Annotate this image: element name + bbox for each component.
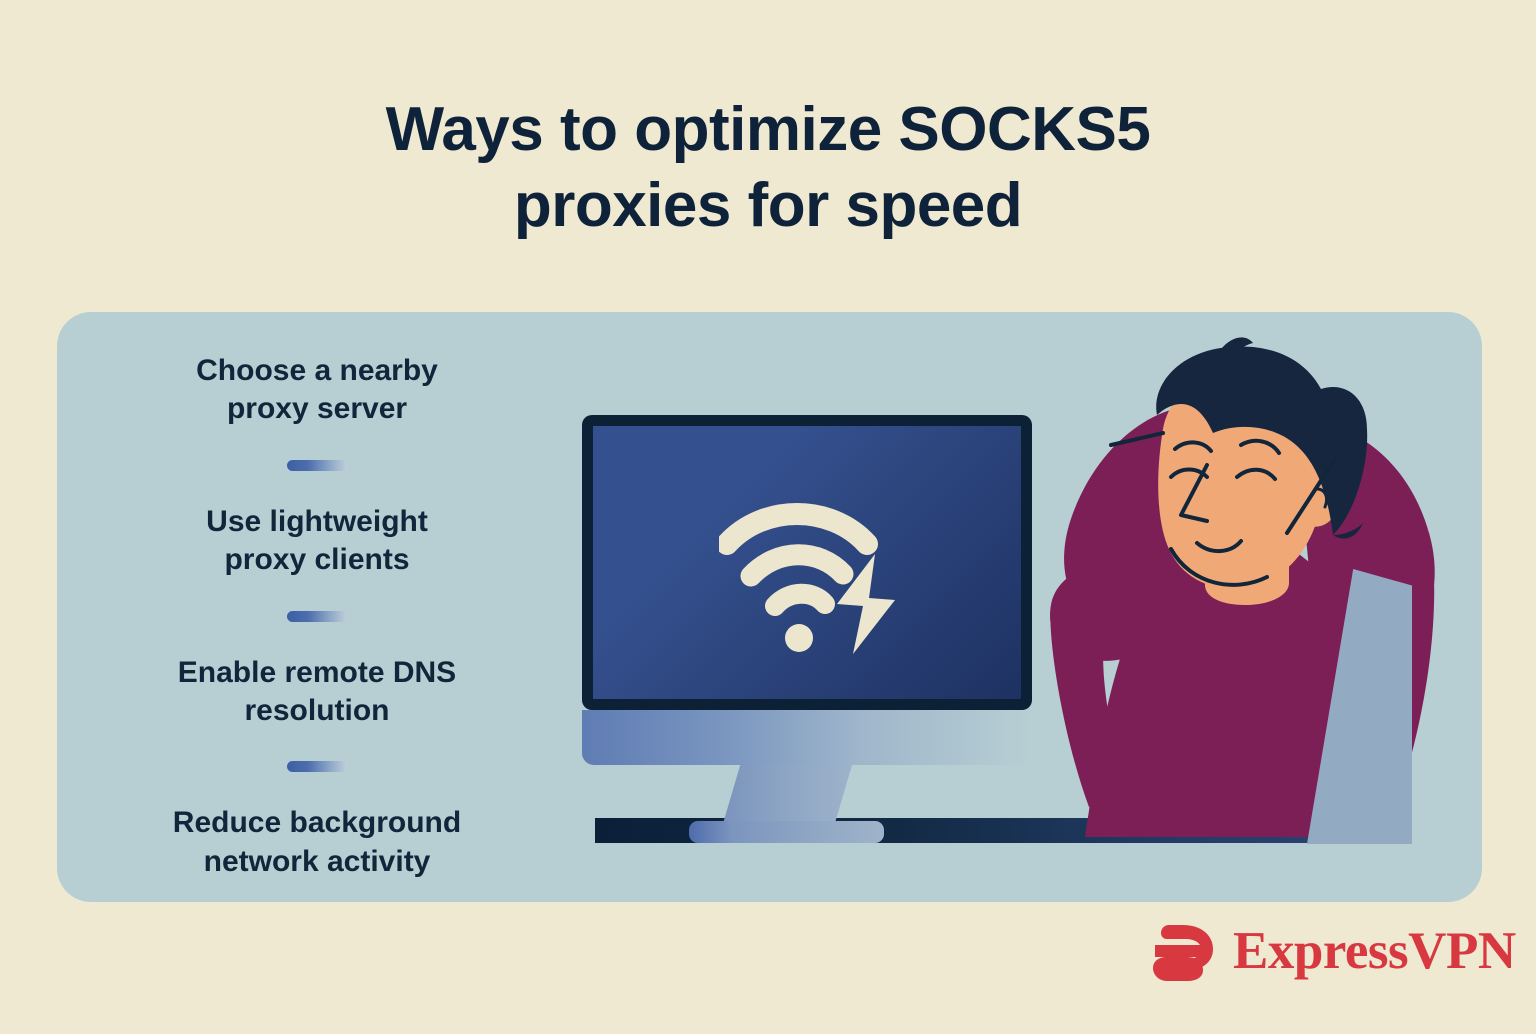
page-title-line-2: proxies for speed [0,168,1536,244]
monitor-screen [593,426,1021,699]
desktop-monitor [582,415,1047,845]
person-illustration [1045,337,1465,847]
list-item: Enable remote DNS resolution [117,654,517,731]
monitor-stand [722,765,852,827]
tip-4-line-1: Reduce background [117,804,517,842]
page-title: Ways to optimize SOCKS5 proxies for spee… [0,92,1536,243]
monitor-chin [582,710,1032,765]
list-item: Reduce background network activity [117,804,517,881]
tip-1-line-1: Choose a nearby [117,352,517,390]
tip-3-line-2: resolution [117,692,517,730]
divider-dash-2 [287,611,347,622]
infographic-canvas: Ways to optimize SOCKS5 proxies for spee… [0,0,1536,1034]
tip-4-line-2: network activity [117,843,517,881]
expressvpn-e-mark-icon [1153,923,1217,983]
page-title-line-1: Ways to optimize SOCKS5 [386,95,1151,164]
tip-3-line-1: Enable remote DNS [117,654,517,692]
tip-2-line-1: Use lightweight [117,503,517,541]
divider-dash-3 [287,761,347,772]
list-item: Use lightweight proxy clients [117,503,517,580]
expressvpn-logo[interactable]: ExpressVPN [1153,921,1475,987]
monitor-bezel [582,415,1032,710]
wifi-bolt-icon [719,492,919,657]
monitor-base [689,821,884,843]
tip-1-line-2: proxy server [117,390,517,428]
list-item: Choose a nearby proxy server [117,352,517,429]
brand-name: ExpressVPN [1233,921,1516,981]
tips-list: Choose a nearby proxy server Use lightwe… [57,352,577,881]
tip-2-line-2: proxy clients [117,541,517,579]
divider-dash-1 [287,460,347,471]
content-panel: Choose a nearby proxy server Use lightwe… [57,312,1482,902]
